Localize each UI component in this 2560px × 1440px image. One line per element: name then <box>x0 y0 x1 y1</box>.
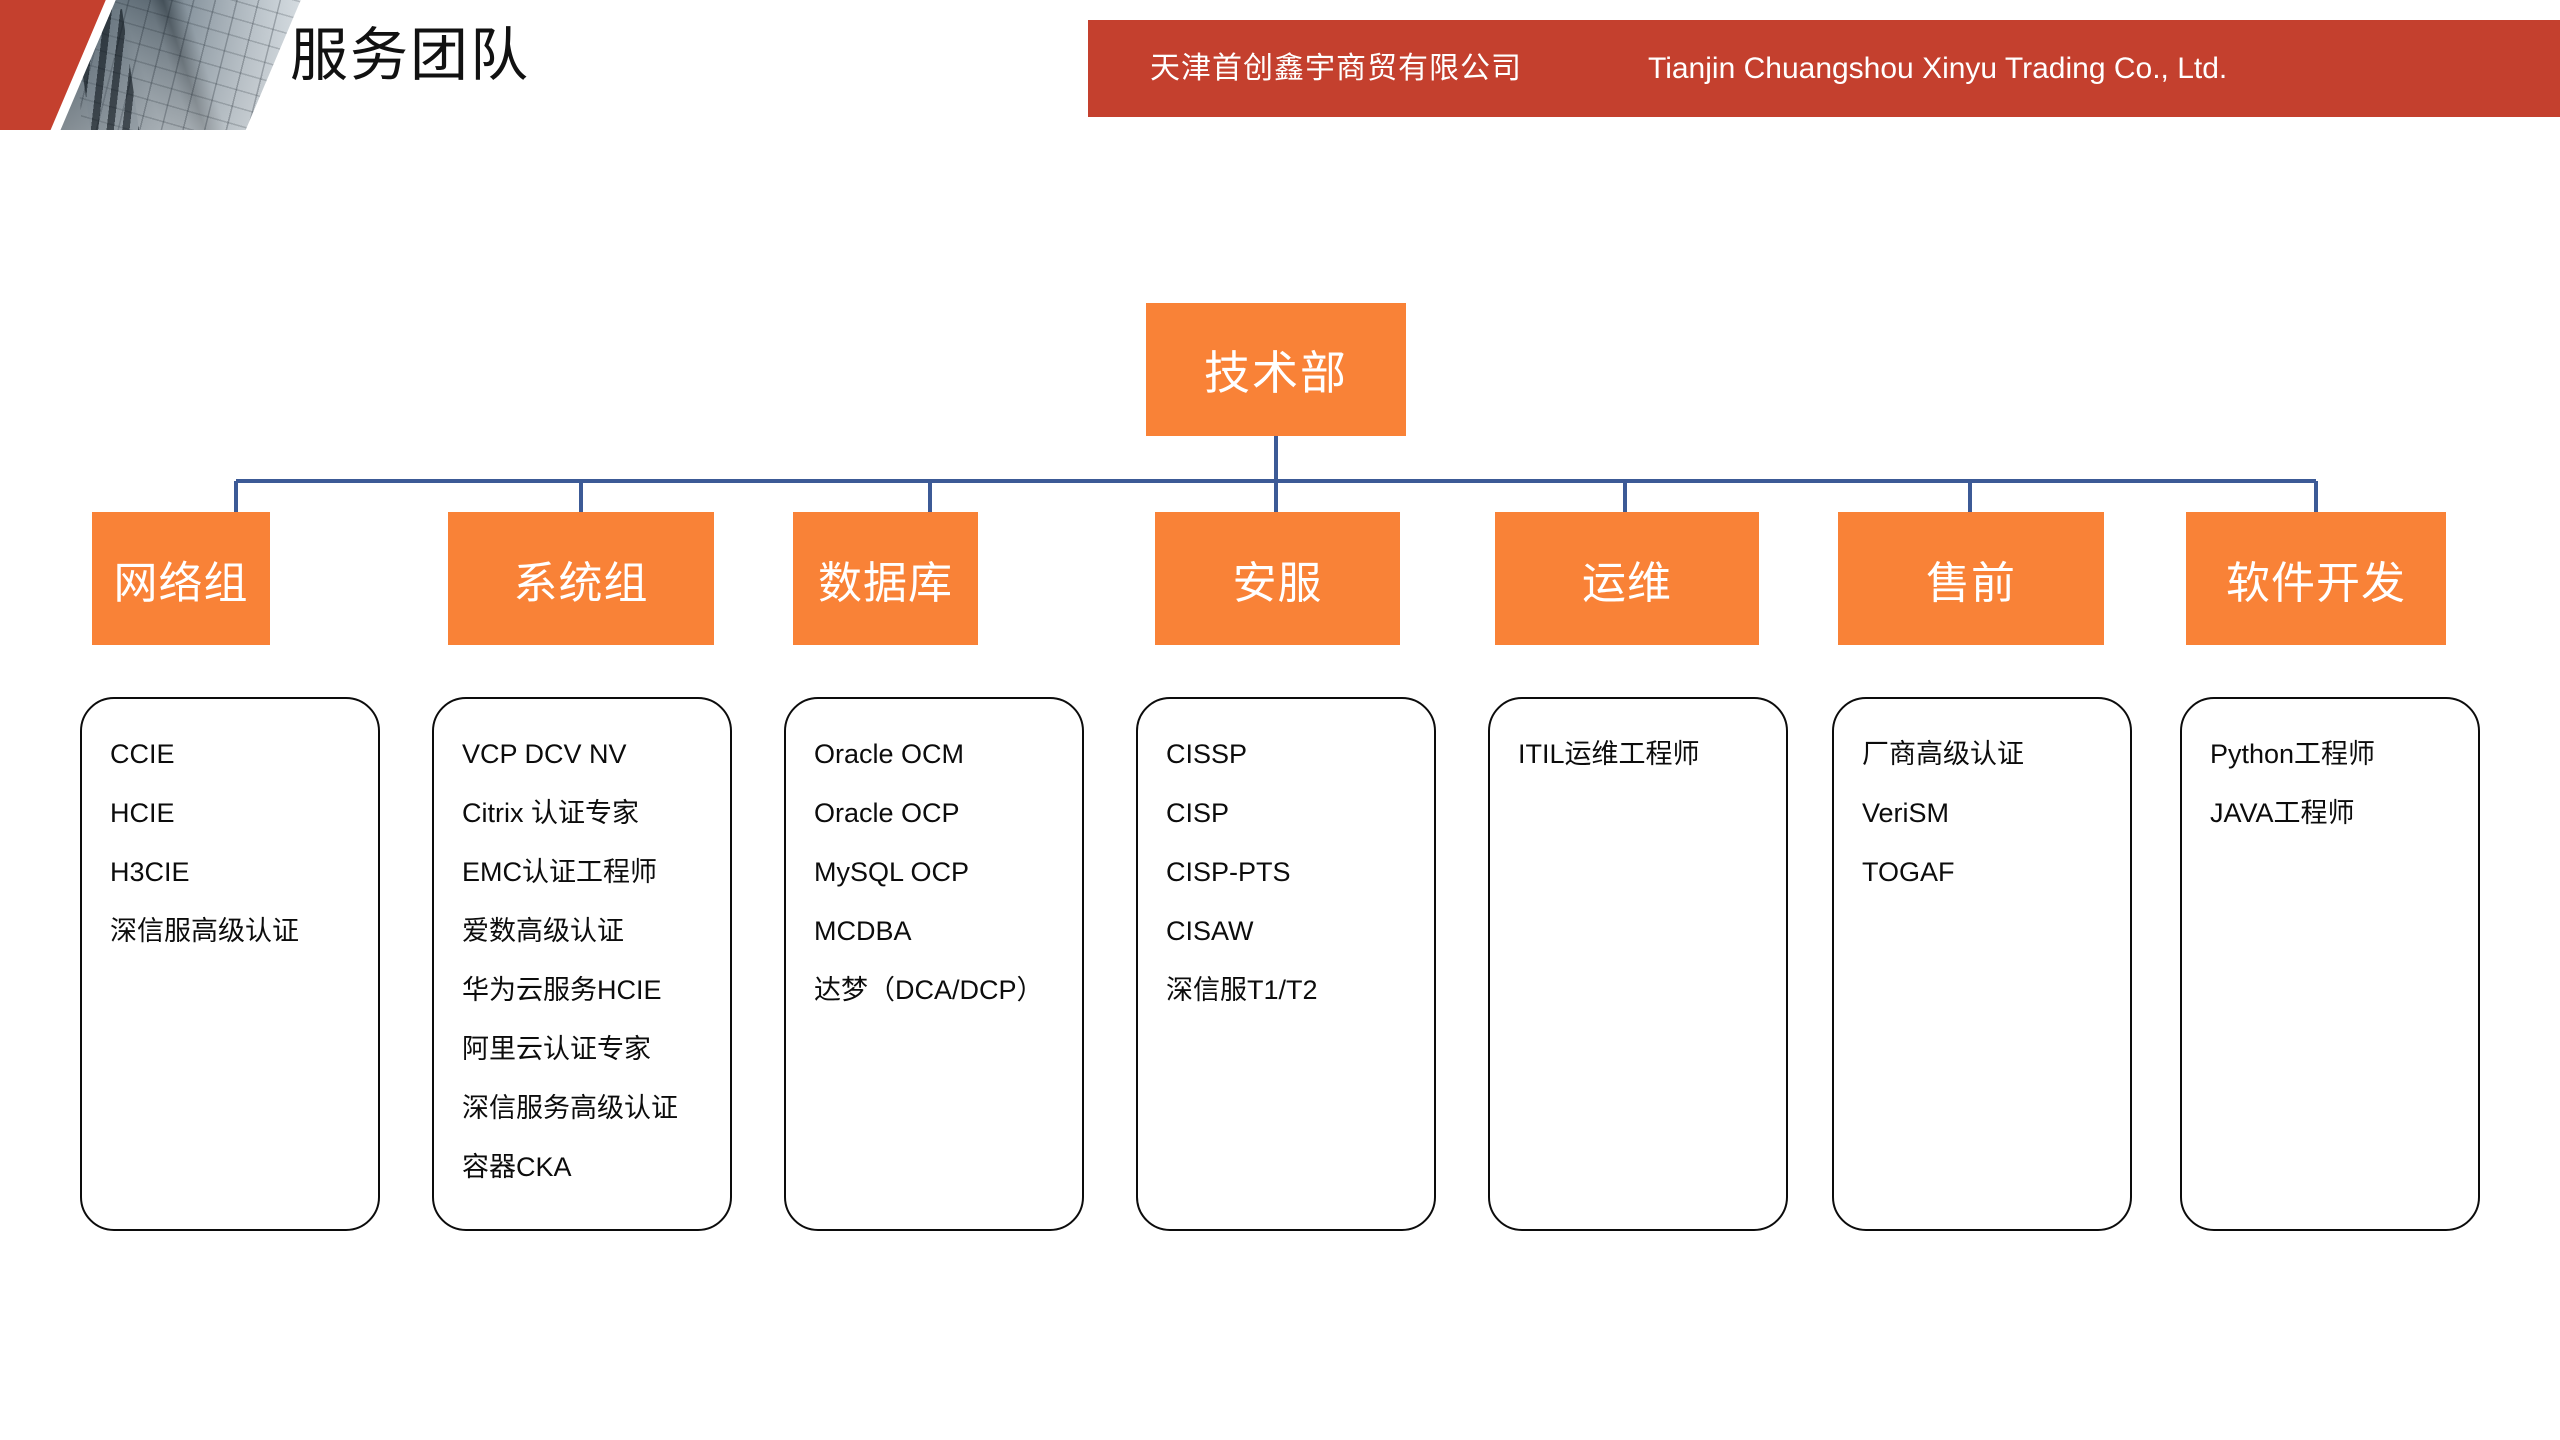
cert-card-1-item-5: 阿里云认证专家 <box>462 1020 730 1079</box>
org-node-dept-1-label: 系统组 <box>514 547 649 611</box>
org-node-dept-2-label: 数据库 <box>818 547 953 611</box>
org-node-dept-2[interactable]: 数据库 <box>793 512 978 645</box>
cert-card-6-item-0: Python工程师 <box>2210 725 2478 784</box>
cert-card-4: ITIL运维工程师 <box>1488 697 1788 1231</box>
cert-card-0-item-3: 深信服高级认证 <box>110 902 378 961</box>
cert-card-6-item-1: JAVA工程师 <box>2210 784 2478 843</box>
cert-card-6: Python工程师JAVA工程师 <box>2180 697 2480 1231</box>
cert-card-5-item-2: TOGAF <box>1862 843 2130 902</box>
org-node-dept-4-label: 运维 <box>1582 547 1672 611</box>
cert-card-2-item-3: MCDBA <box>814 902 1082 961</box>
cert-card-1-item-7: 容器CKA <box>462 1138 730 1197</box>
cert-card-1-item-3: 爱数高级认证 <box>462 902 730 961</box>
cert-card-1-item-1: Citrix 认证专家 <box>462 784 730 843</box>
cert-card-0-item-1: HCIE <box>110 784 378 843</box>
cert-card-3-item-1: CISP <box>1166 784 1434 843</box>
cert-card-2-item-1: Oracle OCP <box>814 784 1082 843</box>
cert-card-5-item-1: VeriSM <box>1862 784 2130 843</box>
cert-card-5-item-0: 厂商高级认证 <box>1862 725 2130 784</box>
org-node-dept-4[interactable]: 运维 <box>1495 512 1759 645</box>
cert-card-3-item-0: CISSP <box>1166 725 1434 784</box>
org-node-dept-1[interactable]: 系统组 <box>448 512 714 645</box>
cert-card-0-item-2: H3CIE <box>110 843 378 902</box>
cert-card-1-item-4: 华为云服务HCIE <box>462 961 730 1020</box>
cert-card-3-item-3: CISAW <box>1166 902 1434 961</box>
cert-card-1-item-2: EMC认证工程师 <box>462 843 730 902</box>
cert-card-0-item-0: CCIE <box>110 725 378 784</box>
org-node-dept-5[interactable]: 售前 <box>1838 512 2104 645</box>
org-node-dept-6[interactable]: 软件开发 <box>2186 512 2446 645</box>
org-node-dept-0[interactable]: 网络组 <box>92 512 270 645</box>
cert-card-3-item-2: CISP-PTS <box>1166 843 1434 902</box>
org-node-dept-3[interactable]: 安服 <box>1155 512 1400 645</box>
cert-card-0: CCIEHCIEH3CIE深信服高级认证 <box>80 697 380 1231</box>
cert-card-1-item-0: VCP DCV NV <box>462 725 730 784</box>
cert-card-4-item-0: ITIL运维工程师 <box>1518 725 1786 784</box>
org-node-dept-6-label: 软件开发 <box>2226 547 2406 611</box>
cert-card-5: 厂商高级认证VeriSMTOGAF <box>1832 697 2132 1231</box>
org-node-dept-5-label: 售前 <box>1926 547 2016 611</box>
cert-card-1-item-6: 深信服务高级认证 <box>462 1079 730 1138</box>
cert-card-2-item-0: Oracle OCM <box>814 725 1082 784</box>
org-node-dept-0-label: 网络组 <box>114 547 249 611</box>
cert-card-2-item-2: MySQL OCP <box>814 843 1082 902</box>
org-chart: 技术部 网络组 系统组 数据库 安服 运维 售前 软件开发 CCIEHCIEH3… <box>0 0 2560 1440</box>
cert-card-3-item-4: 深信服T1/T2 <box>1166 961 1434 1020</box>
cert-card-2-item-4: 达梦（DCA/DCP） <box>814 961 1082 1020</box>
cert-card-1: VCP DCV NVCitrix 认证专家EMC认证工程师爱数高级认证华为云服务… <box>432 697 732 1231</box>
org-node-dept-3-label: 安服 <box>1233 547 1323 611</box>
org-node-root[interactable]: 技术部 <box>1146 303 1406 436</box>
org-node-root-label: 技术部 <box>1204 337 1348 403</box>
cert-card-3: CISSPCISPCISP-PTSCISAW深信服T1/T2 <box>1136 697 1436 1231</box>
cert-card-2: Oracle OCMOracle OCPMySQL OCPMCDBA达梦（DCA… <box>784 697 1084 1231</box>
